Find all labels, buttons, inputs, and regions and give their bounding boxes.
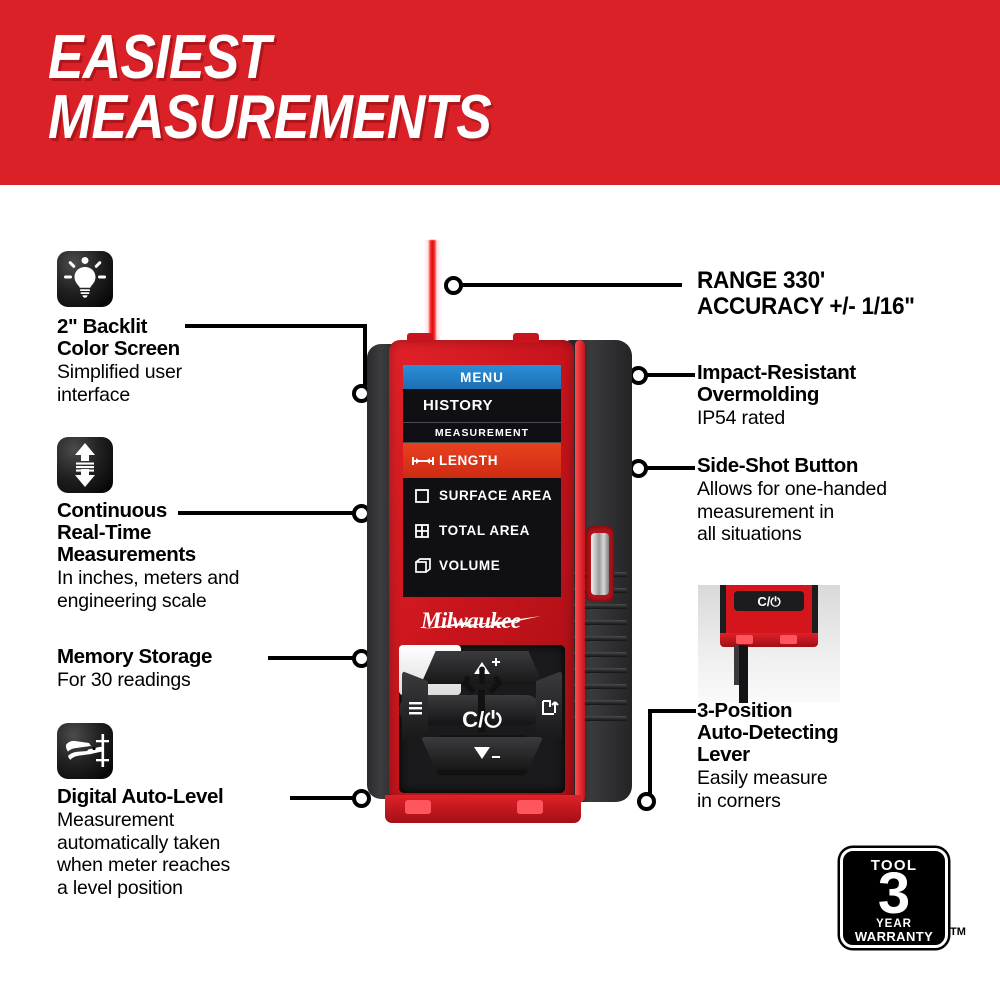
top-tab <box>407 333 433 343</box>
foot-tab <box>405 800 431 814</box>
inset-foot-tab <box>736 635 753 644</box>
callout-subtitle: IP54 rated <box>697 407 987 430</box>
callout-backlit-screen: 2" Backlit Color Screen Simplified user … <box>57 316 307 406</box>
callout-3-position-lever: 3-Position Auto-Detecting Lever Easily m… <box>697 700 987 812</box>
inset-power-icon: C/⏻ <box>734 591 804 611</box>
connector-line-continuous <box>178 511 362 515</box>
product-image-laser-distance-meter: MENU HISTORY MEASUREMENT LENGTH <box>355 245 645 845</box>
connector-line-lever-vert <box>648 709 652 795</box>
page-title: EASIEST MEASUREMENTS <box>48 28 491 148</box>
connector-line-lever-horiz <box>648 709 696 713</box>
connector-line-memory <box>268 656 362 660</box>
svg-text:C/⏻: C/⏻ <box>462 707 502 732</box>
square-icon <box>412 487 434 505</box>
grid-icon <box>412 522 434 540</box>
hand-level-icon <box>57 723 113 779</box>
lightbulb-icon <box>57 251 113 307</box>
device-screen: MENU HISTORY MEASUREMENT LENGTH <box>403 365 561 597</box>
inset-lever <box>739 645 748 703</box>
warranty-warranty-label: WARRANTY <box>840 929 948 944</box>
inset-foot-tab <box>780 635 797 644</box>
warranty-years-number: 3 <box>840 865 948 923</box>
warranty-badge: TOOL 3 YEAR WARRANTY TM <box>840 848 964 960</box>
callout-continuous-measurements: Continuous Real-Time Measurements In inc… <box>57 500 337 612</box>
callout-title: Continuous Real-Time Measurements <box>57 500 337 566</box>
length-icon <box>412 452 434 470</box>
connector-line-sideshot <box>645 466 695 470</box>
milwaukee-logo: Milwaukee <box>415 608 549 634</box>
callout-subtitle: Measurement automatically taken when met… <box>57 809 347 899</box>
brand-name: Milwaukee <box>421 608 520 634</box>
callout-subtitle: Easily measure in corners <box>697 767 987 812</box>
callout-title: Side-Shot Button <box>697 455 992 477</box>
screen-item-total-area[interactable]: TOTAL AREA <box>403 513 561 548</box>
callout-digital-auto-level: Digital Auto-Level Measurement automatic… <box>57 786 347 899</box>
connector-line-backlit <box>185 324 367 328</box>
cube-icon <box>412 557 434 575</box>
callout-title: Impact-Resistant Overmolding <box>697 362 987 406</box>
callout-subtitle: For 30 readings <box>57 669 337 692</box>
svg-text:C/⏻: C/⏻ <box>757 594 781 609</box>
foot-tab <box>517 800 543 814</box>
callout-title: 2" Backlit Color Screen <box>57 316 307 360</box>
side-shot-button[interactable] <box>591 533 609 595</box>
laser-beam <box>429 240 436 345</box>
inset-photo-lever: C/⏻ <box>698 585 840 703</box>
header-banner: EASIEST MEASUREMENTS <box>0 0 1000 185</box>
top-tab <box>513 333 539 343</box>
callout-title: RANGE 330' ACCURACY +/- 1/16" <box>697 268 979 320</box>
screen-item-length[interactable]: LENGTH <box>403 443 561 478</box>
trademark-symbol: TM <box>950 926 966 938</box>
screen-item-label: TOTAL AREA <box>439 523 530 538</box>
inset-power-key: C/⏻ <box>734 591 804 611</box>
screen-item-label: VOLUME <box>439 558 500 573</box>
screen-item-volume[interactable]: VOLUME <box>403 548 561 583</box>
screen-item-surface-area[interactable]: SURFACE AREA <box>403 478 561 513</box>
power-clear-key[interactable]: C/⏻ <box>399 695 541 725</box>
callout-memory-storage: Memory Storage For 30 readings <box>57 646 337 692</box>
up-down-arrow-scale-icon <box>57 437 113 493</box>
keypad: OK <box>399 645 565 793</box>
side-shot-button-housing <box>586 526 614 602</box>
screen-menu-header: MENU <box>403 365 561 389</box>
device-body: MENU HISTORY MEASUREMENT LENGTH <box>367 340 632 810</box>
screen-history-item[interactable]: HISTORY <box>403 389 561 423</box>
callout-title: 3-Position Auto-Detecting Lever <box>697 700 987 766</box>
callout-subtitle: Allows for one-handed measurement in all… <box>697 478 992 546</box>
callout-range-accuracy: RANGE 330' ACCURACY +/- 1/16" <box>697 268 997 320</box>
callout-subtitle: Simplified user interface <box>57 361 307 406</box>
screen-measurement-section: MEASUREMENT <box>403 423 561 443</box>
callout-impact-resistant-overmolding: Impact-Resistant Overmolding IP54 rated <box>697 362 987 430</box>
screen-item-label: LENGTH <box>439 453 498 468</box>
device-front-face: MENU HISTORY MEASUREMENT LENGTH <box>389 340 574 802</box>
callout-side-shot-button: Side-Shot Button Allows for one-handed m… <box>697 455 992 546</box>
device-red-spine <box>575 340 585 802</box>
callout-subtitle: In inches, meters and engineering scale <box>57 567 337 612</box>
screen-item-label: SURFACE AREA <box>439 488 552 503</box>
connector-line-overmolding <box>645 373 695 377</box>
